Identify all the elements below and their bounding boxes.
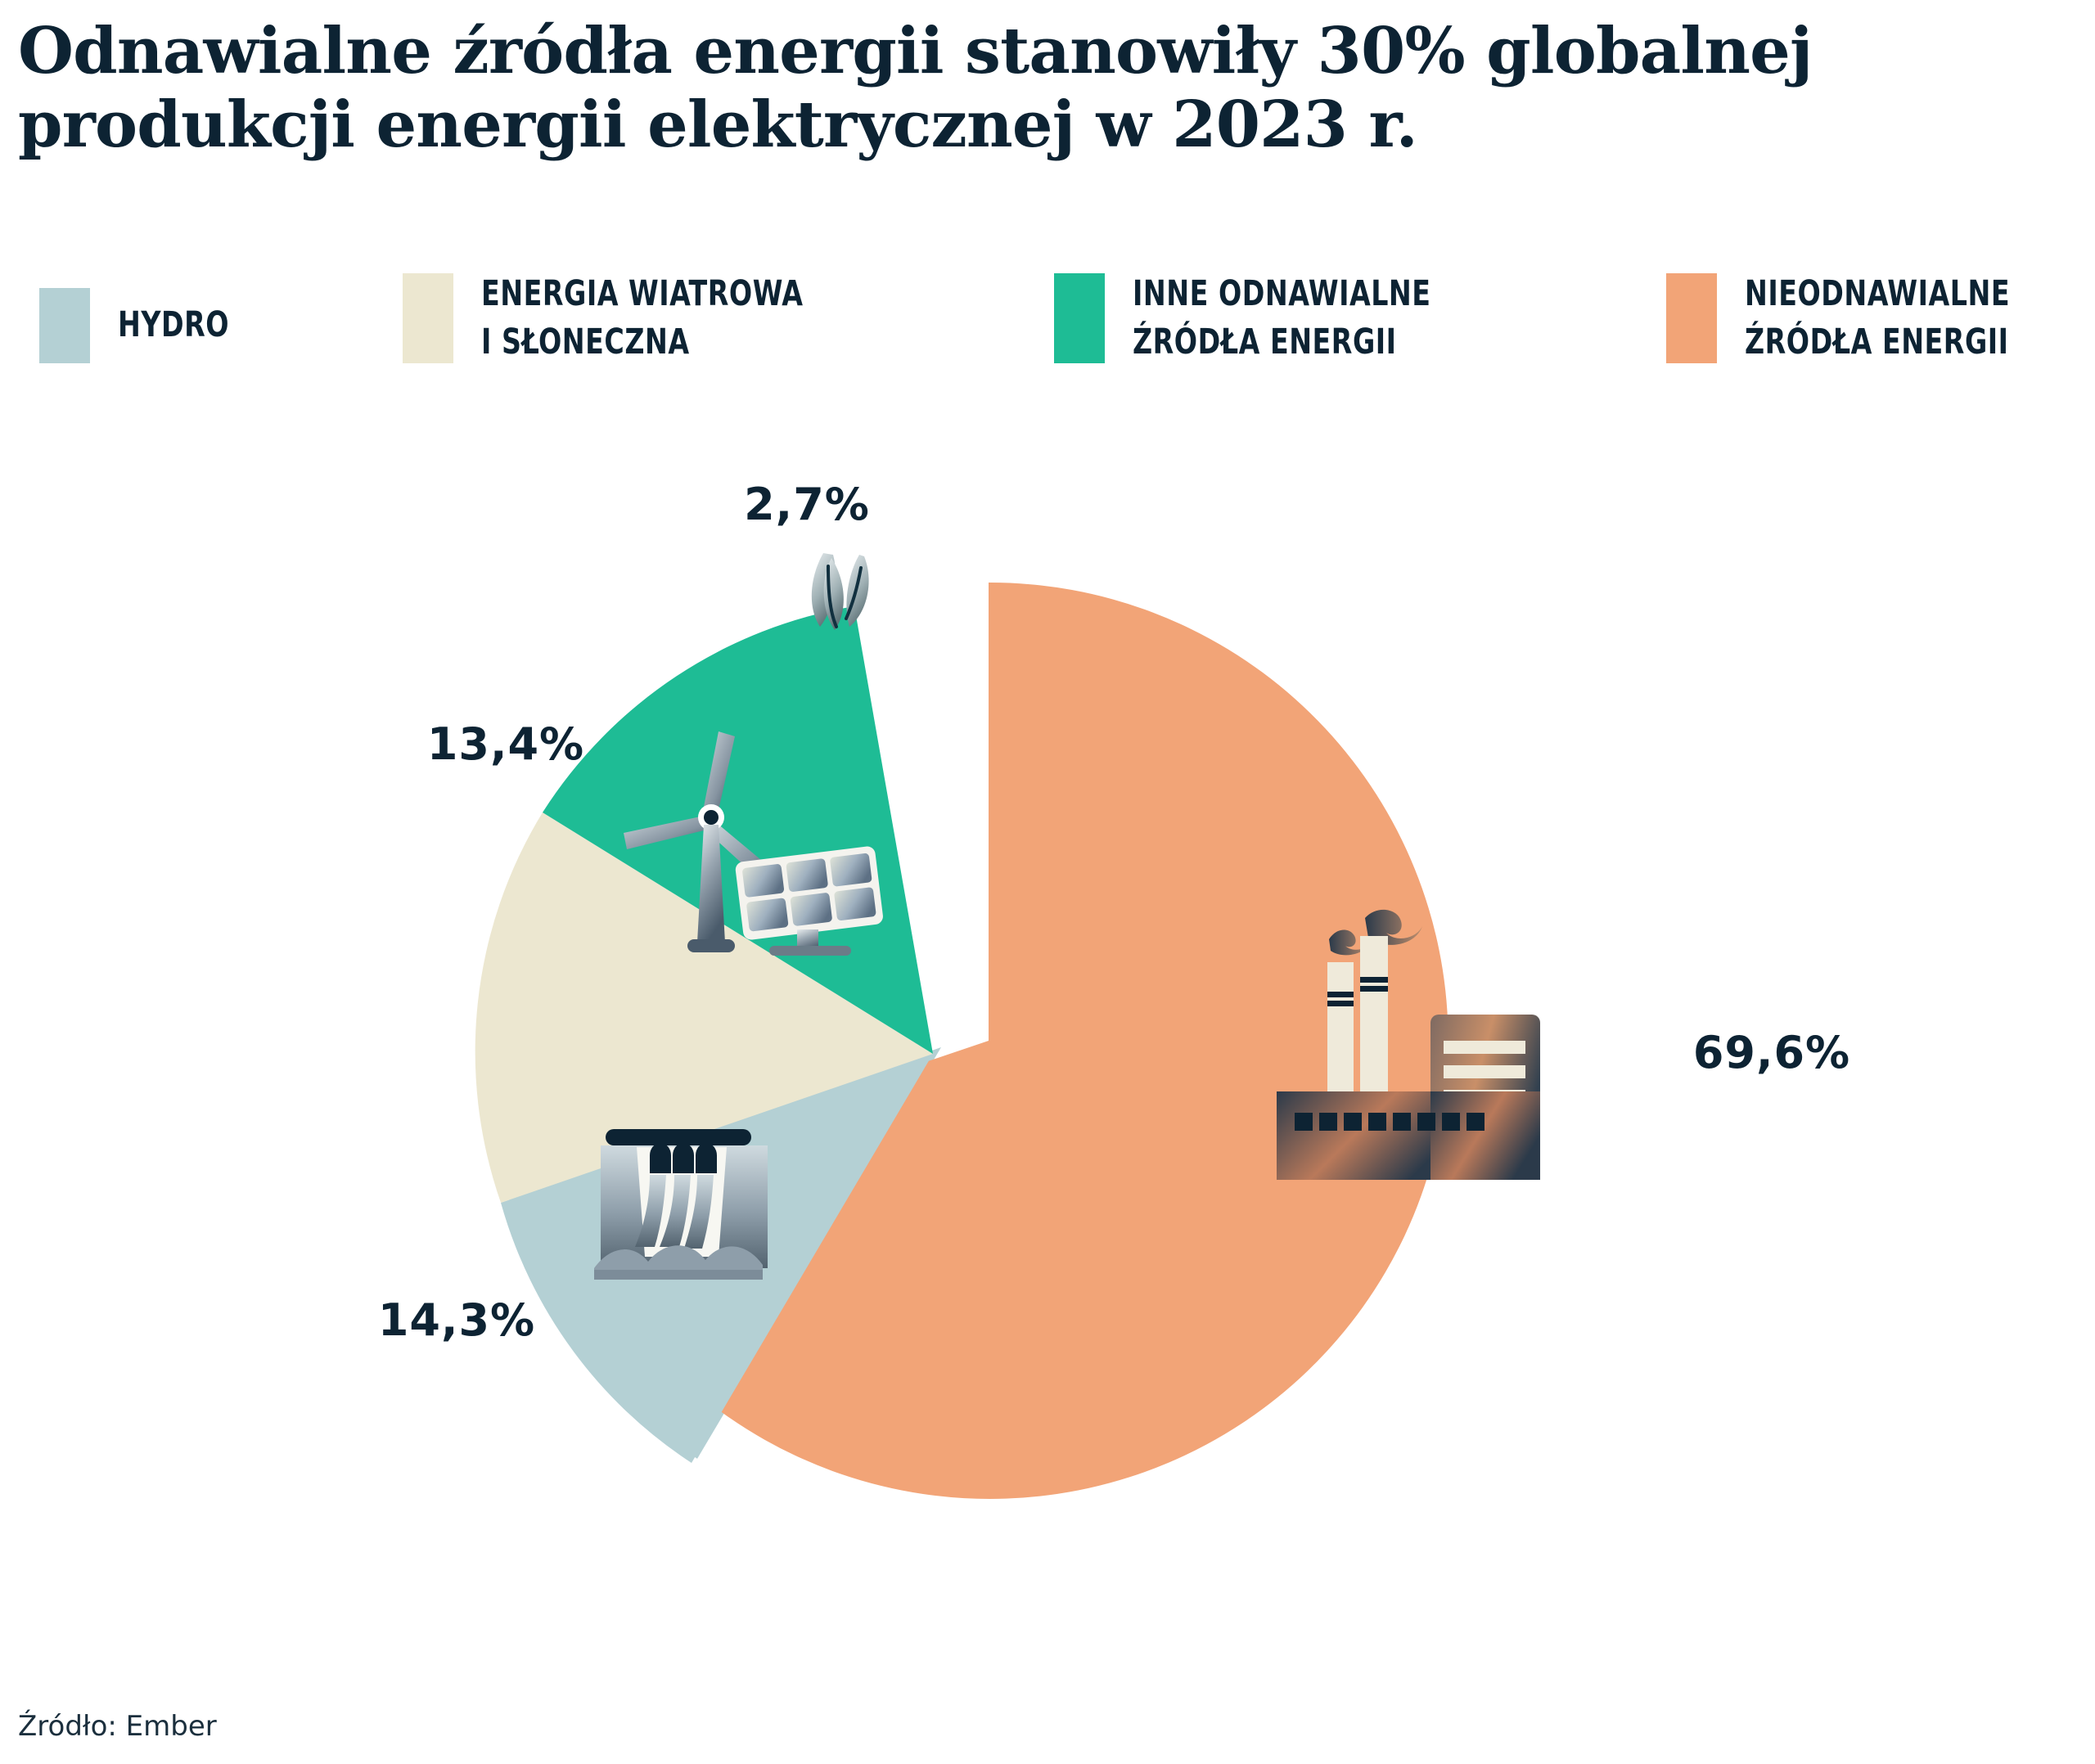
legend-item-non-renewables[interactable]: NIEODNAWIALNE ŹRÓDŁA ENERGII — [1666, 270, 2053, 367]
legend-swatch-hydro — [39, 288, 90, 363]
hydro-dam-icon — [594, 1129, 768, 1280]
label-non-renewables: 69,6% — [1693, 1027, 1850, 1078]
title-line-2: produkcji energii elektrycznej w 2023 r. — [18, 88, 2064, 162]
legend-label-hydro: HYDRO — [118, 301, 229, 349]
legend-item-hydro[interactable]: HYDRO — [39, 288, 247, 363]
page-title: Odnawialne źródła energii stanowiły 30% … — [18, 15, 2064, 163]
source-note: Źródło: Ember — [18, 1710, 217, 1743]
pie-chart: 2,7% 13,4% 14,3% 69,6% — [0, 458, 2095, 1645]
label-wind-solar: 13,4% — [427, 718, 584, 770]
legend-label-wind-solar: ENERGIA WIATROWA I SŁONECZNA — [481, 270, 804, 367]
label-other-renewables: 2,7% — [744, 479, 870, 530]
legend-swatch-non-renewables — [1666, 273, 1717, 363]
chart-legend: HYDRO ENERGIA WIATROWA I SŁONECZNA INNE … — [25, 270, 2087, 385]
legend-swatch-wind-solar — [403, 273, 453, 363]
legend-item-other-renewables[interactable]: INNE ODNAWIALNE ŹRÓDŁA ENERGII — [1054, 270, 1480, 367]
infographic-page: Odnawialne źródła energii stanowiły 30% … — [0, 0, 2095, 1764]
legend-label-non-renewables: NIEODNAWIALNE ŹRÓDŁA ENERGII — [1745, 270, 2010, 367]
label-hydro: 14,3% — [378, 1294, 535, 1346]
title-line-1: Odnawialne źródła energii stanowiły 30% … — [18, 15, 2064, 88]
legend-item-wind-solar[interactable]: ENERGIA WIATROWA I SŁONECZNA — [403, 270, 856, 367]
legend-label-other-renewables: INNE ODNAWIALNE ŹRÓDŁA ENERGII — [1133, 270, 1431, 367]
legend-swatch-other-renewables — [1054, 273, 1105, 363]
